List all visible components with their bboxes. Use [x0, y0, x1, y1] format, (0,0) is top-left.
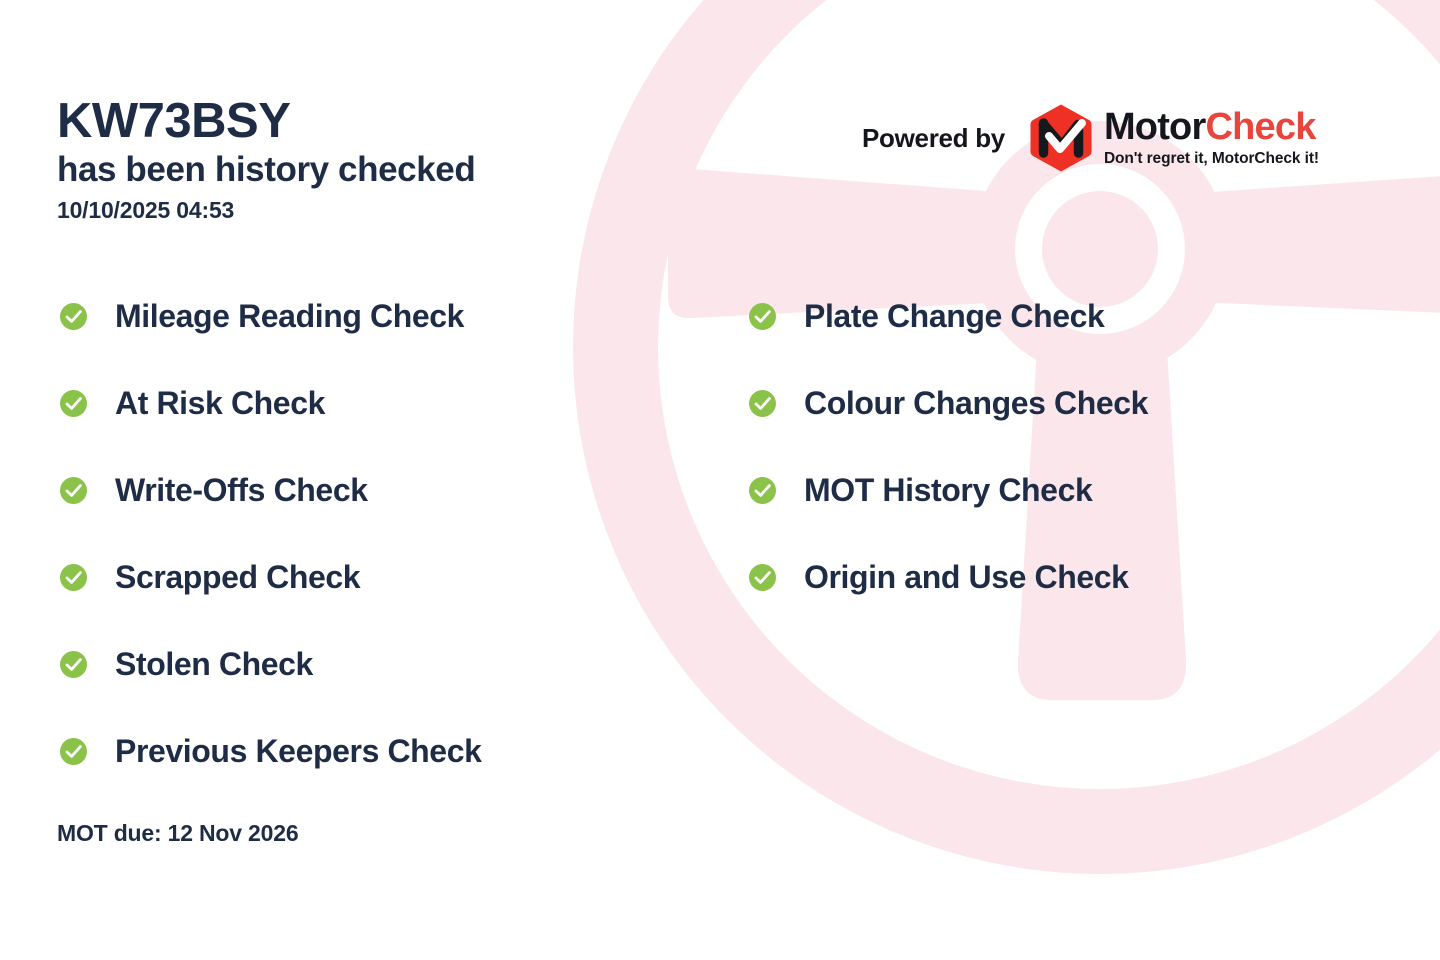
check-list-item: Scrapped Check — [60, 557, 482, 598]
page-subtitle: has been history checked — [57, 149, 697, 190]
wordmark-check: Check — [1205, 106, 1315, 148]
check-list-item: Colour Changes Check — [749, 383, 1148, 424]
check-list-item-label: Stolen Check — [115, 646, 313, 683]
history-check-card: KW73BSY has been history checked 10/10/2… — [0, 0, 1440, 960]
check-circle-icon — [60, 564, 87, 591]
check-list-left: Mileage Reading Check At Risk Check Writ… — [60, 296, 482, 772]
header-block: KW73BSY has been history checked 10/10/2… — [57, 96, 697, 224]
check-list-item: Origin and Use Check — [749, 557, 1148, 598]
check-circle-icon — [60, 651, 87, 678]
check-list-item-label: MOT History Check — [804, 472, 1092, 509]
mot-due-text: MOT due: 12 Nov 2026 — [57, 820, 298, 847]
check-circle-icon — [60, 390, 87, 417]
check-list-item-label: Mileage Reading Check — [115, 298, 464, 335]
wordmark-motor: Motor — [1104, 106, 1206, 148]
check-circle-icon — [60, 738, 87, 765]
check-list-item: MOT History Check — [749, 470, 1148, 511]
check-list-right: Plate Change Check Colour Changes Check … — [749, 296, 1148, 598]
check-circle-icon — [749, 303, 776, 330]
motorcheck-hexagon-m-check-icon — [1029, 103, 1093, 173]
check-list-item: Stolen Check — [60, 644, 482, 685]
check-list-item-label: Colour Changes Check — [804, 385, 1148, 422]
motorcheck-wordmark: MotorCheck — [1104, 108, 1319, 146]
page-title-plate: KW73BSY — [57, 96, 697, 147]
check-list-item-label: At Risk Check — [115, 385, 325, 422]
check-list-item: Plate Change Check — [749, 296, 1148, 337]
check-list-item: Write-Offs Check — [60, 470, 482, 511]
check-list-item: At Risk Check — [60, 383, 482, 424]
check-list-item-label: Write-Offs Check — [115, 472, 368, 509]
motorcheck-wordmark-block: MotorCheck Don't regret it, MotorCheck i… — [1104, 108, 1319, 168]
powered-by-label: Powered by — [862, 123, 1005, 154]
check-circle-icon — [749, 564, 776, 591]
check-circle-icon — [749, 390, 776, 417]
check-list-item-label: Previous Keepers Check — [115, 733, 482, 770]
check-circle-icon — [60, 303, 87, 330]
check-list-item-label: Plate Change Check — [804, 298, 1104, 335]
check-circle-icon — [749, 477, 776, 504]
check-list-item: Mileage Reading Check — [60, 296, 482, 337]
motorcheck-tagline: Don't regret it, MotorCheck it! — [1104, 150, 1319, 168]
motorcheck-logo: MotorCheck Don't regret it, MotorCheck i… — [1029, 103, 1319, 173]
check-circle-icon — [60, 477, 87, 504]
check-list-item: Previous Keepers Check — [60, 731, 482, 772]
powered-by-block: Powered by MotorCheck Don't regret it, M… — [862, 103, 1319, 173]
check-timestamp: 10/10/2025 04:53 — [57, 197, 697, 224]
check-list-item-label: Scrapped Check — [115, 559, 360, 596]
check-list-item-label: Origin and Use Check — [804, 559, 1129, 596]
